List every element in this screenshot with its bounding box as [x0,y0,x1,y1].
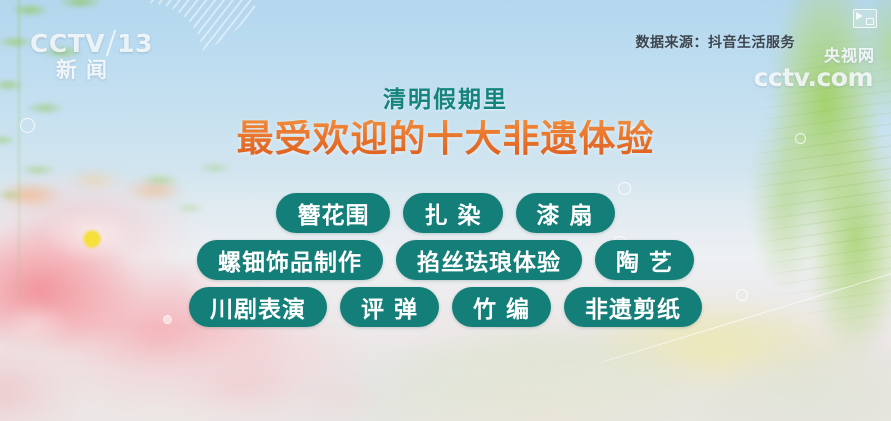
tag-pill[interactable]: 掐丝珐琅体验 [396,240,582,280]
tag-row: 螺钿饰品制作 掐丝珐琅体验 陶 艺 [197,240,694,280]
cctv-channel-logo: CCTV 13 新闻 [30,30,160,88]
background-bottom-mist [0,326,891,421]
tag-pill[interactable]: 川剧表演 [189,287,327,327]
tag-pill[interactable]: 螺钿饰品制作 [197,240,383,280]
striped-arc-decoration [148,0,273,58]
tag-pill[interactable]: 非遗剪纸 [564,287,702,327]
cctv-logo-number: 13 [117,31,153,56]
tag-pill[interactable]: 评 弹 [340,287,439,327]
headline-subtitle: 清明假期里 [0,88,891,112]
tag-row: 簪花围 扎 染 漆 扇 [276,193,614,233]
cctv-logo-subtitle: 新闻 [56,60,160,81]
headline-block: 清明假期里 最受欢迎的十大非遗体验 [0,88,891,159]
watermark-cn-text: 央视网 [824,48,875,64]
cctv-com-watermark: 央视网 cctv.com [705,44,877,90]
tag-pill[interactable]: 竹 编 [452,287,551,327]
tag-rows: 簪花围 扎 染 漆 扇 螺钿饰品制作 掐丝珐琅体验 陶 艺 川剧表演 评 弹 竹… [0,193,891,327]
headline-title: 最受欢迎的十大非遗体验 [0,120,891,159]
tag-pill[interactable]: 扎 染 [403,193,502,233]
cctv-logo-slash-icon [106,30,116,56]
tag-row: 川剧表演 评 弹 竹 编 非遗剪纸 [189,287,702,327]
tag-pill[interactable]: 簪花围 [276,193,390,233]
tag-pill[interactable]: 漆 扇 [516,193,615,233]
screen-share-icon[interactable] [853,9,877,28]
background-green-hill [330,330,760,421]
broadcast-graphic: CCTV 13 新闻 数据来源：抖音生活服务 央视网 cctv.com 清明假期… [0,0,891,421]
cctv-logo-row: CCTV 13 [30,30,160,56]
tag-pill[interactable]: 陶 艺 [595,240,694,280]
cctv-logo-text: CCTV [30,31,105,56]
watermark-en-text: cctv.com [754,65,873,90]
background-green-hill-right [690,345,891,421]
background-teal-hill [250,352,550,421]
cherry-blossom-bottom [180,340,480,421]
